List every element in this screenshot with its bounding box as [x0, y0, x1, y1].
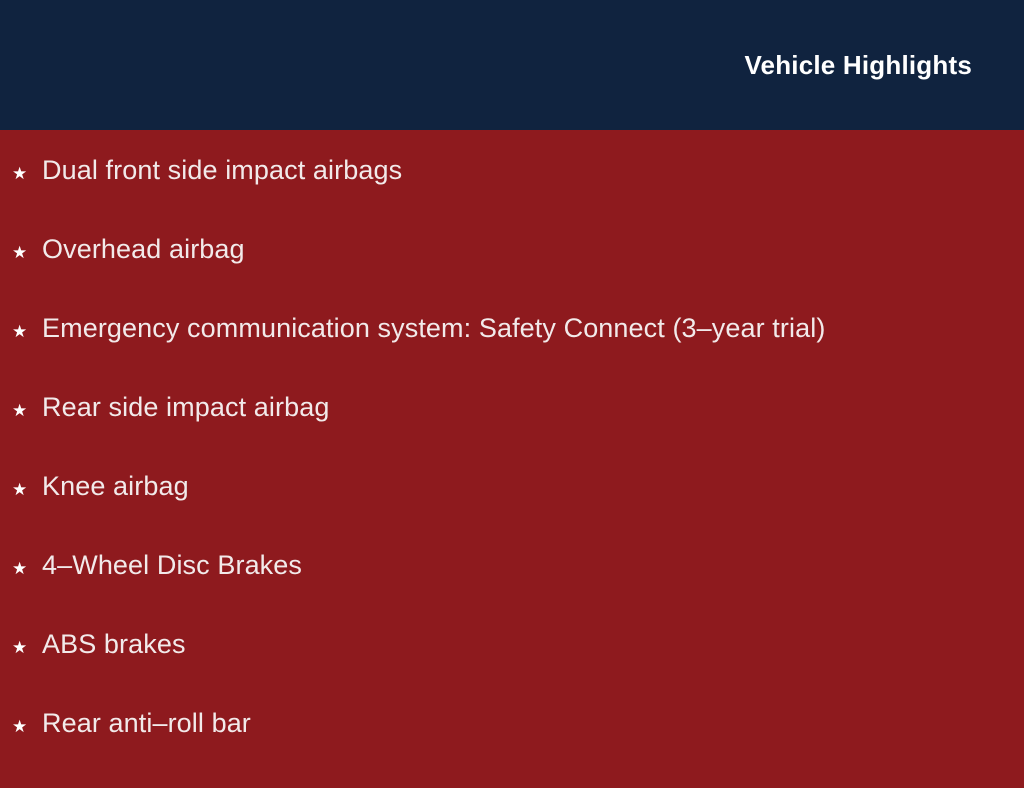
list-item: ★ Rear side impact airbag [0, 393, 1024, 472]
list-item-label: 4–Wheel Disc Brakes [42, 551, 302, 581]
star-icon: ★ [12, 639, 42, 656]
page-title: Vehicle Highlights [744, 52, 972, 78]
list-item-label: Knee airbag [42, 472, 189, 502]
star-icon: ★ [12, 402, 42, 419]
star-icon: ★ [12, 718, 42, 735]
list-item: ★ Dual front side impact airbags [0, 130, 1024, 235]
slide: Vehicle Highlights ★ Dual front side imp… [0, 0, 1024, 768]
vehicle-highlights-list: ★ Dual front side impact airbags ★ Overh… [0, 130, 1024, 788]
list-item: ★ Overhead airbag [0, 235, 1024, 314]
list-item-label: Rear anti–roll bar [42, 709, 251, 739]
list-item: ★ Rear anti–roll bar [0, 709, 1024, 788]
star-icon: ★ [12, 165, 42, 182]
header-band: Vehicle Highlights [0, 0, 1024, 130]
list-item: ★ Knee airbag [0, 472, 1024, 551]
list-item-label: Overhead airbag [42, 235, 245, 265]
list-item-label: Emergency communication system: Safety C… [42, 314, 825, 344]
star-icon: ★ [12, 560, 42, 577]
content-area: ★ Dual front side impact airbags ★ Overh… [0, 130, 1024, 768]
list-item-label: Rear side impact airbag [42, 393, 329, 423]
list-item-label: ABS brakes [42, 630, 186, 660]
list-item-label: Dual front side impact airbags [42, 156, 402, 186]
star-icon: ★ [12, 481, 42, 498]
list-item: ★ Emergency communication system: Safety… [0, 314, 1024, 393]
list-item: ★ ABS brakes [0, 630, 1024, 709]
star-icon: ★ [12, 244, 42, 261]
list-item: ★ 4–Wheel Disc Brakes [0, 551, 1024, 630]
star-icon: ★ [12, 323, 42, 340]
